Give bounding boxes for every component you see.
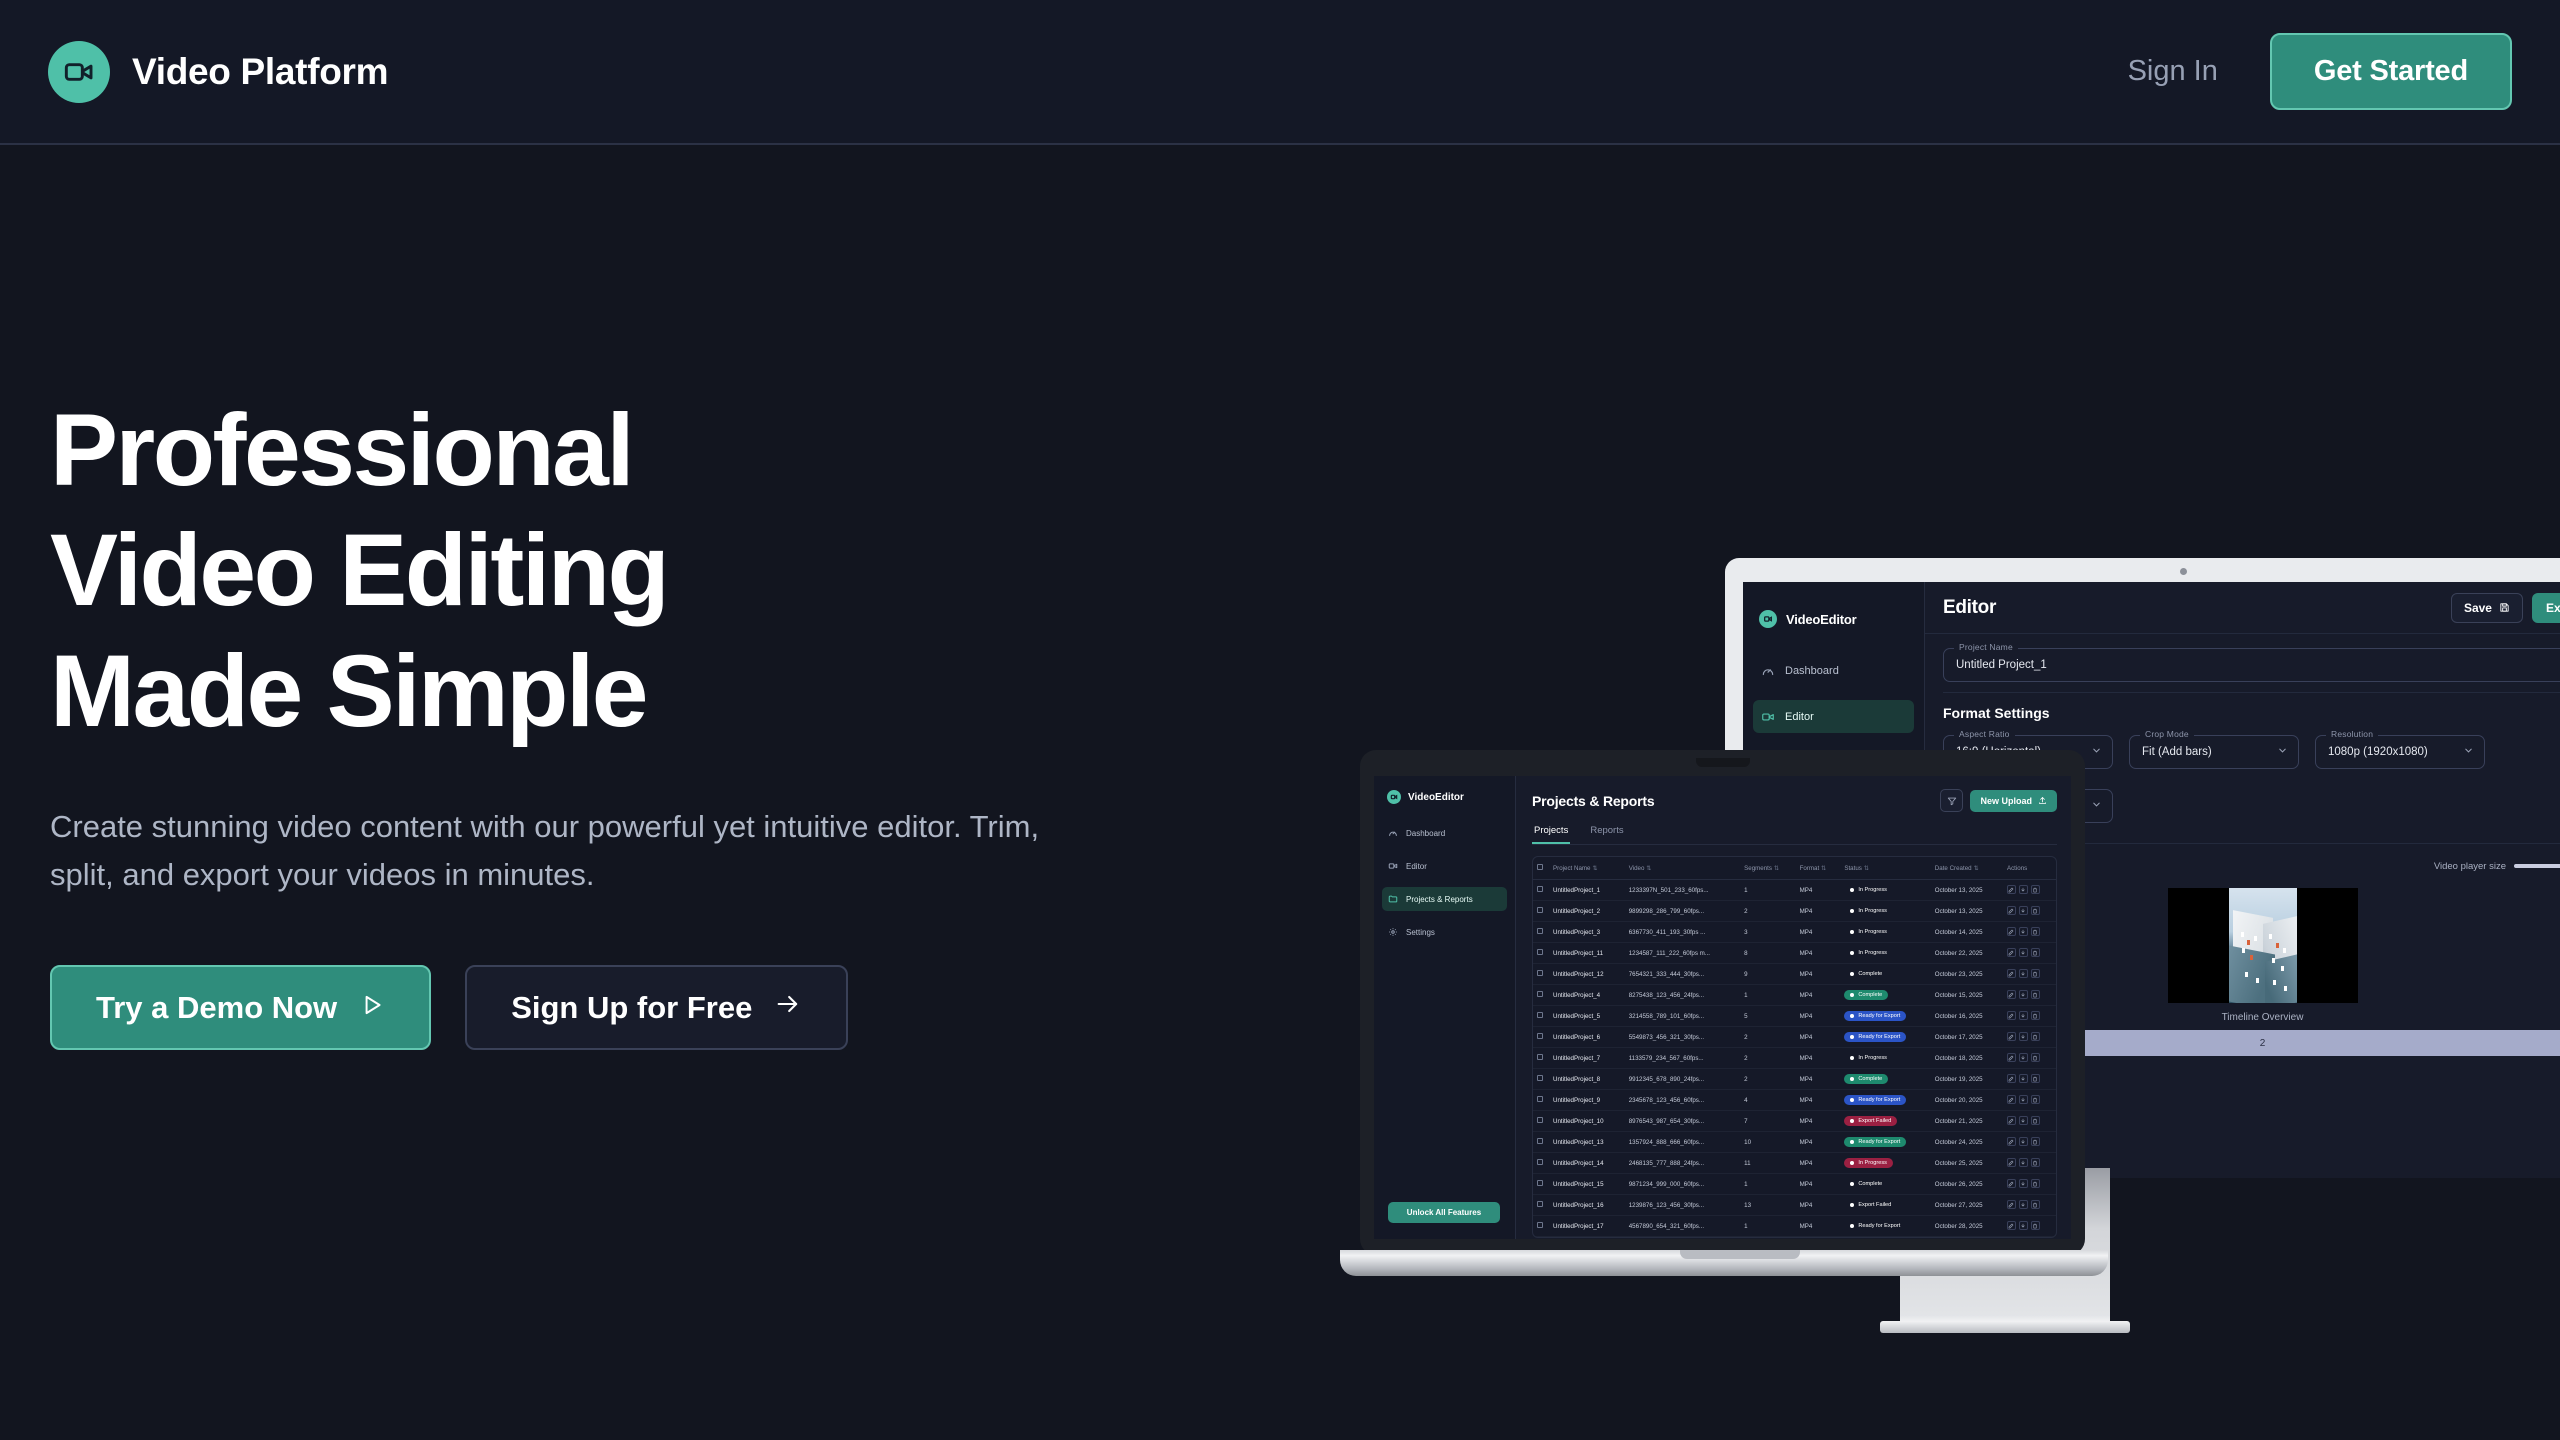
cell-video: 1233397N_501_233_60fps...	[1625, 880, 1740, 901]
cell-video: 9899298_286_799_60fps...	[1625, 901, 1740, 922]
status-dot-icon	[1850, 1161, 1854, 1165]
row-checkbox-cell[interactable]	[1533, 1174, 1549, 1195]
col-format[interactable]: Format⇅	[1796, 857, 1841, 880]
table-row[interactable]: UntitledProject_108976543_987_654_30fps.…	[1533, 1111, 2056, 1132]
cell-actions	[2003, 901, 2056, 922]
editor-page-title: Editor	[1943, 597, 1996, 619]
trash-icon[interactable]	[2031, 1074, 2040, 1083]
checkbox-icon[interactable]	[1537, 1201, 1543, 1207]
col-video[interactable]: Video⇅	[1625, 857, 1740, 880]
cell-date-created: October 16, 2025	[1931, 1006, 2003, 1027]
status-badge: In Progress	[1844, 906, 1893, 916]
checkbox-icon[interactable]	[1537, 1012, 1543, 1018]
cell-status: Export Failed	[1840, 1111, 1930, 1132]
row-checkbox-cell[interactable]	[1533, 1111, 1549, 1132]
slider-track[interactable]	[2514, 864, 2560, 868]
resolution-label: Resolution	[2326, 729, 2378, 739]
checkbox-icon[interactable]	[1537, 1180, 1543, 1186]
filter-icon	[1947, 796, 1957, 806]
status-dot-icon	[1850, 951, 1854, 955]
table-body: UntitledProject_11233397N_501_233_60fps.…	[1533, 880, 2056, 1237]
editor-topbar: Editor Save Exp	[1925, 582, 2560, 634]
row-actions	[2007, 1116, 2040, 1125]
laptop-camera-icon	[1696, 758, 1750, 767]
checkbox-icon[interactable]	[1537, 928, 1543, 934]
projects-header: Projects & Reports New Upload	[1532, 789, 2057, 812]
projects-header-actions: New Upload	[1940, 789, 2057, 812]
laptop-device: VideoEditor Dashboard Editor	[1340, 750, 2140, 1330]
cell-actions	[2003, 1153, 2056, 1174]
projects-app: VideoEditor Dashboard Editor	[1374, 776, 2071, 1239]
row-checkbox-cell[interactable]	[1533, 943, 1549, 964]
status-label: Ready for Export	[1858, 1139, 1900, 1145]
cell-status: Complete	[1840, 964, 1930, 985]
download-icon[interactable]	[2019, 1074, 2028, 1083]
sidebar-item-projects-reports[interactable]: Projects & Reports	[1382, 887, 1507, 911]
status-dot-icon	[1850, 1014, 1854, 1018]
checkbox-icon[interactable]	[1537, 1117, 1543, 1123]
row-checkbox-cell[interactable]	[1533, 985, 1549, 1006]
row-checkbox-cell[interactable]	[1533, 1195, 1549, 1216]
sidebar-item-editor[interactable]: Editor	[1382, 854, 1507, 878]
cell-date-created: October 27, 2025	[1931, 1195, 2003, 1216]
download-icon[interactable]	[2019, 1053, 2028, 1062]
cell-status: Complete	[1840, 1174, 1930, 1195]
download-icon[interactable]	[2019, 1179, 2028, 1188]
status-dot-icon	[1850, 1140, 1854, 1144]
cell-actions	[2003, 1048, 2056, 1069]
cell-segments: 1	[1740, 1174, 1795, 1195]
trash-icon[interactable]	[2031, 906, 2040, 915]
edit-icon[interactable]	[2007, 1179, 2016, 1188]
trash-icon[interactable]	[2031, 1221, 2040, 1230]
sidebar-item-label: Dashboard	[1785, 665, 1839, 677]
row-checkbox-cell[interactable]	[1533, 1153, 1549, 1174]
trash-icon[interactable]	[2031, 1011, 2040, 1020]
download-icon[interactable]	[2019, 927, 2028, 936]
checkbox-icon[interactable]	[1537, 949, 1543, 955]
download-icon[interactable]	[2019, 1032, 2028, 1041]
edit-icon[interactable]	[2007, 1158, 2016, 1167]
sidebar-item-settings[interactable]: Settings	[1382, 920, 1507, 944]
cell-status: Ready for Export	[1840, 1216, 1930, 1237]
header-actions: Sign In Get Started	[2114, 33, 2512, 110]
table-row[interactable]: UntitledProject_159871234_999_000_60fps.…	[1533, 1174, 2056, 1195]
table-row[interactable]: UntitledProject_11233397N_501_233_60fps.…	[1533, 880, 2056, 901]
col-status[interactable]: Status⇅	[1840, 857, 1930, 880]
cell-segments: 2	[1740, 1048, 1795, 1069]
status-dot-icon	[1850, 909, 1854, 913]
edit-icon[interactable]	[2007, 948, 2016, 957]
chevron-down-icon	[2463, 743, 2474, 761]
download-icon[interactable]	[2019, 1095, 2028, 1104]
download-icon[interactable]	[2019, 885, 2028, 894]
checkbox-icon[interactable]	[1537, 1222, 1543, 1228]
cell-project-name: UntitledProject_8	[1549, 1069, 1625, 1090]
checkbox-icon[interactable]	[1537, 1096, 1543, 1102]
table-row[interactable]: UntitledProject_53214558_789_101_60fps..…	[1533, 1006, 2056, 1027]
checkbox-icon[interactable]	[1537, 970, 1543, 976]
table-row[interactable]: UntitledProject_131357924_888_666_60fps.…	[1533, 1132, 2056, 1153]
cell-date-created: October 21, 2025	[1931, 1111, 2003, 1132]
row-checkbox-cell[interactable]	[1533, 922, 1549, 943]
sidebar-item-label: Editor	[1406, 862, 1427, 871]
row-checkbox-cell[interactable]	[1533, 1006, 1549, 1027]
get-started-button[interactable]: Get Started	[2270, 33, 2512, 110]
row-actions	[2007, 1053, 2040, 1062]
cell-actions	[2003, 1111, 2056, 1132]
edit-icon[interactable]	[2007, 1116, 2016, 1125]
export-button[interactable]: Exp	[2532, 593, 2560, 623]
cell-status: In Progress	[1840, 901, 1930, 922]
new-upload-button[interactable]: New Upload	[1970, 790, 2057, 812]
sign-up-free-button[interactable]: Sign Up for Free	[465, 965, 848, 1050]
trash-icon[interactable]	[2031, 969, 2040, 978]
cell-segments: 4	[1740, 1090, 1795, 1111]
row-checkbox-cell[interactable]	[1533, 1132, 1549, 1153]
save-button[interactable]: Save	[2451, 593, 2523, 623]
download-icon[interactable]	[2019, 1137, 2028, 1146]
edit-icon[interactable]	[2007, 885, 2016, 894]
cell-status: Export Failed	[1840, 1195, 1930, 1216]
table-row[interactable]: UntitledProject_127654321_333_444_30fps.…	[1533, 964, 2056, 985]
status-badge: In Progress	[1844, 885, 1893, 895]
video-preview-stage[interactable]	[2168, 888, 2358, 1003]
cell-actions	[2003, 1174, 2056, 1195]
editor-brand: VideoEditor	[1743, 602, 1924, 628]
cell-video: 6367730_411_193_30fps ...	[1625, 922, 1740, 943]
status-dot-icon	[1850, 1035, 1854, 1039]
table-row[interactable]: UntitledProject_174567890_654_321_60fps.…	[1533, 1216, 2056, 1237]
cell-actions	[2003, 922, 2056, 943]
cell-status: Complete	[1840, 985, 1930, 1006]
table-row[interactable]: UntitledProject_36367730_411_193_30fps .…	[1533, 922, 2056, 943]
cell-segments: 1	[1740, 985, 1795, 1006]
cell-video: 5549873_456_321_30fps...	[1625, 1027, 1740, 1048]
cell-video: 8976543_987_654_30fps...	[1625, 1111, 1740, 1132]
row-actions	[2007, 1158, 2040, 1167]
unlock-all-features-button[interactable]: Unlock All Features	[1388, 1202, 1500, 1223]
cell-project-name: UntitledProject_1	[1549, 880, 1625, 901]
status-badge: In Progress	[1844, 948, 1893, 958]
table-row[interactable]: UntitledProject_161239876_123_456_30fps.…	[1533, 1195, 2056, 1216]
row-actions	[2007, 1200, 2040, 1209]
cell-format: MP4	[1796, 943, 1841, 964]
edit-icon[interactable]	[2007, 1221, 2016, 1230]
status-label: In Progress	[1858, 1160, 1887, 1166]
project-name-field[interactable]: Project Name Untitled Project_1	[1943, 648, 2560, 682]
status-dot-icon	[1850, 993, 1854, 997]
sort-icon[interactable]: ⇅	[1774, 866, 1779, 872]
project-name-value: Untitled Project_1	[1956, 659, 2047, 671]
checkbox-icon[interactable]	[1537, 864, 1543, 870]
status-badge: Ready for Export	[1844, 1032, 1906, 1042]
status-label: In Progress	[1858, 1055, 1887, 1061]
try-demo-button[interactable]: Try a Demo Now	[50, 965, 431, 1050]
col-date-created[interactable]: Date Created⇅	[1931, 857, 2003, 880]
sort-icon[interactable]: ⇅	[1592, 866, 1597, 872]
cell-date-created: October 14, 2025	[1931, 922, 2003, 943]
row-actions	[2007, 1011, 2040, 1020]
checkbox-icon[interactable]	[1537, 1033, 1543, 1039]
resolution-select[interactable]: Resolution 1080p (1920x1080)	[2315, 735, 2485, 769]
cell-video: 1133579_234_567_60fps...	[1625, 1048, 1740, 1069]
edit-icon[interactable]	[2007, 906, 2016, 915]
status-dot-icon	[1850, 1119, 1854, 1123]
sidebar-item-label: Settings	[1406, 928, 1435, 937]
table-head: Project Name⇅ Video⇅ Segments⇅ Format⇅ S…	[1533, 857, 2056, 880]
player-size-label: Video player size	[2434, 861, 2506, 872]
edit-icon[interactable]	[2007, 969, 2016, 978]
cell-actions	[2003, 1006, 2056, 1027]
download-icon[interactable]	[2019, 906, 2028, 915]
cell-date-created: October 20, 2025	[1931, 1090, 2003, 1111]
cell-project-name: UntitledProject_12	[1549, 964, 1625, 985]
trash-icon[interactable]	[2031, 948, 2040, 957]
row-checkbox-cell[interactable]	[1533, 1069, 1549, 1090]
crop-mode-select[interactable]: Crop Mode Fit (Add bars)	[2129, 735, 2299, 769]
cell-segments: 13	[1740, 1195, 1795, 1216]
cell-format: MP4	[1796, 922, 1841, 943]
trash-icon[interactable]	[2031, 1032, 2040, 1041]
status-label: Ready for Export	[1858, 1223, 1900, 1229]
row-actions	[2007, 948, 2040, 957]
edit-icon[interactable]	[2007, 1095, 2016, 1104]
cell-segments: 1	[1740, 1216, 1795, 1237]
sidebar-item-label: Dashboard	[1406, 829, 1445, 838]
status-dot-icon	[1850, 888, 1854, 892]
cell-segments: 2	[1740, 901, 1795, 922]
status-dot-icon	[1850, 1077, 1854, 1081]
cell-format: MP4	[1796, 1048, 1841, 1069]
checkbox-icon[interactable]	[1537, 1054, 1543, 1060]
sidebar-item-dashboard[interactable]: Dashboard	[1753, 654, 1914, 687]
status-dot-icon	[1850, 1098, 1854, 1102]
projects-nav: Dashboard Editor Projects & Reports	[1374, 821, 1515, 944]
download-icon[interactable]	[2019, 948, 2028, 957]
trash-icon[interactable]	[2031, 1158, 2040, 1167]
download-icon[interactable]	[2019, 1116, 2028, 1125]
edit-icon[interactable]	[2007, 927, 2016, 936]
hero-title-line-2: Video Editing	[50, 510, 1130, 630]
projects-table: Project Name⇅ Video⇅ Segments⇅ Format⇅ S…	[1533, 857, 2056, 1237]
download-icon[interactable]	[2019, 1221, 2028, 1230]
tab-projects[interactable]: Projects	[1532, 825, 1570, 844]
edit-icon[interactable]	[2007, 1074, 2016, 1083]
status-badge: Ready for Export	[1844, 1137, 1906, 1147]
cell-status: Ready for Export	[1840, 1090, 1930, 1111]
resolution-value: 1080p (1920x1080)	[2328, 746, 2428, 758]
row-checkbox-cell[interactable]	[1533, 1090, 1549, 1111]
sort-icon[interactable]: ⇅	[1974, 866, 1979, 872]
trash-icon[interactable]	[2031, 1053, 2040, 1062]
row-actions	[2007, 969, 2040, 978]
sign-up-free-label: Sign Up for Free	[511, 990, 752, 1026]
edit-icon[interactable]	[2007, 1032, 2016, 1041]
cell-video: 8275438_123_456_24fps...	[1625, 985, 1740, 1006]
cell-actions	[2003, 964, 2056, 985]
status-dot-icon	[1850, 1224, 1854, 1228]
cell-format: MP4	[1796, 1216, 1841, 1237]
table-row[interactable]: UntitledProject_29899298_286_799_60fps..…	[1533, 901, 2056, 922]
table-row[interactable]: UntitledProject_65549873_456_321_30fps..…	[1533, 1027, 2056, 1048]
gear-icon	[1388, 927, 1398, 937]
row-checkbox-cell[interactable]	[1533, 1048, 1549, 1069]
status-badge: Complete	[1844, 969, 1888, 979]
page-title: Professional Video Editing Made Simple	[50, 390, 1130, 751]
cell-project-name: UntitledProject_6	[1549, 1027, 1625, 1048]
cell-project-name: UntitledProject_13	[1549, 1132, 1625, 1153]
col-select-all[interactable]	[1533, 857, 1549, 880]
cell-date-created: October 24, 2025	[1931, 1132, 2003, 1153]
filter-button[interactable]	[1940, 789, 1963, 812]
editor-top-buttons: Save Exp	[2451, 593, 2560, 623]
video-camera-icon	[1761, 710, 1775, 724]
trash-icon[interactable]	[2031, 1095, 2040, 1104]
chevron-down-icon	[2277, 743, 2288, 761]
cell-date-created: October 25, 2025	[1931, 1153, 2003, 1174]
row-actions	[2007, 1032, 2040, 1041]
row-checkbox-cell[interactable]	[1533, 901, 1549, 922]
trash-icon[interactable]	[2031, 1179, 2040, 1188]
cell-date-created: October 19, 2025	[1931, 1069, 2003, 1090]
row-checkbox-cell[interactable]	[1533, 880, 1549, 901]
download-icon[interactable]	[2019, 1011, 2028, 1020]
cell-format: MP4	[1796, 985, 1841, 1006]
col-actions: Actions	[2003, 857, 2056, 880]
video-camera-icon	[48, 41, 110, 103]
row-actions	[2007, 906, 2040, 915]
projects-tabs: Projects Reports	[1532, 825, 2057, 845]
status-badge: Complete	[1844, 1074, 1888, 1084]
cell-status: Ready for Export	[1840, 1027, 1930, 1048]
download-icon[interactable]	[2019, 1200, 2028, 1209]
table-row[interactable]: UntitledProject_92345678_123_456_60fps..…	[1533, 1090, 2056, 1111]
edit-icon[interactable]	[2007, 990, 2016, 999]
status-dot-icon	[1850, 1203, 1854, 1207]
cell-status: In Progress	[1840, 880, 1930, 901]
row-actions	[2007, 885, 2040, 894]
cell-project-name: UntitledProject_16	[1549, 1195, 1625, 1216]
edit-icon[interactable]	[2007, 1053, 2016, 1062]
projects-brand-name: VideoEditor	[1408, 792, 1464, 803]
checkbox-icon[interactable]	[1537, 1075, 1543, 1081]
download-icon[interactable]	[2019, 1158, 2028, 1167]
download-icon[interactable]	[2019, 990, 2028, 999]
projects-brand: VideoEditor	[1374, 790, 1515, 804]
sidebar-item-dashboard[interactable]: Dashboard	[1382, 821, 1507, 845]
hero-cta-group: Try a Demo Now Sign Up for Free	[50, 965, 1130, 1050]
table-row[interactable]: UntitledProject_48275438_123_456_24fps..…	[1533, 985, 2056, 1006]
floppy-disk-icon	[2499, 602, 2510, 613]
hero-title-line-3: Made Simple	[50, 631, 1130, 751]
table-row[interactable]: UntitledProject_142468135_777_888_24fps.…	[1533, 1153, 2056, 1174]
sort-icon[interactable]: ⇅	[1821, 866, 1826, 872]
trash-icon[interactable]	[2031, 885, 2040, 894]
hero-subtitle: Create stunning video content with our p…	[50, 803, 1110, 899]
row-checkbox-cell[interactable]	[1533, 1216, 1549, 1237]
cell-project-name: UntitledProject_4	[1549, 985, 1625, 1006]
row-checkbox-cell[interactable]	[1533, 1027, 1549, 1048]
cell-project-name: UntitledProject_11	[1549, 943, 1625, 964]
cell-format: MP4	[1796, 1195, 1841, 1216]
edit-icon[interactable]	[2007, 1137, 2016, 1146]
laptop-screen: VideoEditor Dashboard Editor	[1374, 776, 2071, 1239]
trash-icon[interactable]	[2031, 1200, 2040, 1209]
cell-date-created: October 23, 2025	[1931, 964, 2003, 985]
hero-section: Professional Video Editing Made Simple C…	[0, 145, 2560, 1440]
cell-format: MP4	[1796, 1006, 1841, 1027]
edit-icon[interactable]	[2007, 1200, 2016, 1209]
cell-segments: 10	[1740, 1132, 1795, 1153]
cell-format: MP4	[1796, 1132, 1841, 1153]
trash-icon[interactable]	[2031, 927, 2040, 936]
brand-logo[interactable]: Video Platform	[48, 41, 388, 103]
player-size-slider[interactable]: Video player size	[2434, 861, 2560, 872]
tab-reports[interactable]: Reports	[1588, 825, 1625, 844]
status-label: In Progress	[1858, 950, 1887, 956]
row-actions	[2007, 1095, 2040, 1104]
projects-main: Projects & Reports New Upload	[1516, 776, 2071, 1239]
video-camera-icon	[1759, 610, 1777, 628]
cell-actions	[2003, 1195, 2056, 1216]
monitor-camera-icon	[2180, 568, 2187, 575]
checkbox-icon[interactable]	[1537, 1138, 1543, 1144]
cell-video: 3214558_789_101_60fps...	[1625, 1006, 1740, 1027]
row-checkbox-cell[interactable]	[1533, 964, 1549, 985]
checkbox-icon[interactable]	[1537, 907, 1543, 913]
checkbox-icon[interactable]	[1537, 886, 1543, 892]
cell-video: 4567890_654_321_60fps...	[1625, 1216, 1740, 1237]
status-label: Export Failed	[1858, 1118, 1891, 1124]
edit-icon[interactable]	[2007, 1011, 2016, 1020]
cell-format: MP4	[1796, 1153, 1841, 1174]
cell-format: MP4	[1796, 1174, 1841, 1195]
cell-date-created: October 18, 2025	[1931, 1048, 2003, 1069]
cell-actions	[2003, 1090, 2056, 1111]
format-settings-title: Format Settings	[1943, 705, 2560, 721]
table-row[interactable]: UntitledProject_89912345_678_890_24fps..…	[1533, 1069, 2056, 1090]
status-label: In Progress	[1858, 929, 1887, 935]
sort-icon[interactable]: ⇅	[1646, 866, 1651, 872]
sort-icon[interactable]: ⇅	[1864, 866, 1869, 872]
cell-format: MP4	[1796, 1111, 1841, 1132]
cell-format: MP4	[1796, 901, 1841, 922]
cell-actions	[2003, 1132, 2056, 1153]
status-label: Complete	[1858, 971, 1882, 977]
cell-status: Complete	[1840, 1069, 1930, 1090]
col-project-name[interactable]: Project Name⇅	[1549, 857, 1625, 880]
status-badge: Ready for Export	[1844, 1011, 1906, 1021]
download-icon[interactable]	[2019, 969, 2028, 978]
checkbox-icon[interactable]	[1537, 991, 1543, 997]
trash-icon[interactable]	[2031, 1116, 2040, 1125]
trash-icon[interactable]	[2031, 990, 2040, 999]
sign-in-link[interactable]: Sign In	[2114, 45, 2232, 98]
video-camera-icon	[1387, 790, 1401, 804]
col-segments[interactable]: Segments⇅	[1740, 857, 1795, 880]
status-badge: Export Failed	[1844, 1200, 1897, 1210]
projects-sidebar: VideoEditor Dashboard Editor	[1374, 776, 1516, 1239]
table-row[interactable]: UntitledProject_111234587_111_222_60fps …	[1533, 943, 2056, 964]
checkbox-icon[interactable]	[1537, 1159, 1543, 1165]
trash-icon[interactable]	[2031, 1137, 2040, 1146]
table-row[interactable]: UntitledProject_71133579_234_567_60fps..…	[1533, 1048, 2056, 1069]
cell-segments: 5	[1740, 1006, 1795, 1027]
sidebar-item-editor[interactable]: Editor	[1753, 700, 1914, 733]
site-header: Video Platform Sign In Get Started	[0, 0, 2560, 145]
cell-video: 1357924_888_666_60fps...	[1625, 1132, 1740, 1153]
